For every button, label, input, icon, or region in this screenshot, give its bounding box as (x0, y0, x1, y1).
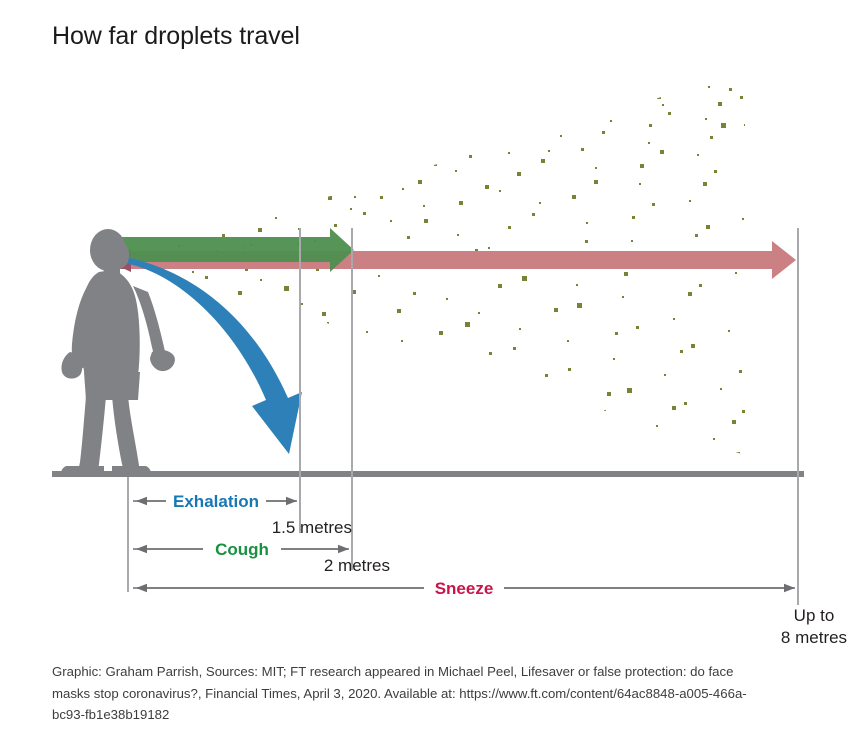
exhalation-dimension: Exhalation (133, 489, 297, 513)
sneeze-value: Up to 8 metres (781, 606, 847, 647)
ground-line (52, 471, 804, 477)
cough-value-text: 2 metres (324, 556, 390, 575)
exhalation-label: Exhalation (173, 492, 259, 511)
cough-value: 2 metres (324, 556, 390, 575)
sneeze-value-line1: Up to (794, 606, 835, 625)
source-caption: Graphic: Graham Parrish, Sources: MIT; F… (52, 661, 752, 726)
exhalation-arrow (118, 256, 302, 454)
sneeze-value-line2: 8 metres (781, 628, 847, 647)
illustration-area: Exhalation 1.5 metres Cough 2 metres Sne… (0, 0, 855, 650)
sneeze-label: Sneeze (435, 579, 494, 598)
cough-dimension: Cough (133, 537, 349, 561)
exhalation-value-text: 1.5 metres (272, 518, 352, 537)
sneeze-dimension: Sneeze (133, 576, 795, 600)
exhalation-value: 1.5 metres (272, 518, 352, 537)
infographic-root: How far droplets travel (0, 0, 855, 736)
cough-label: Cough (215, 540, 269, 559)
